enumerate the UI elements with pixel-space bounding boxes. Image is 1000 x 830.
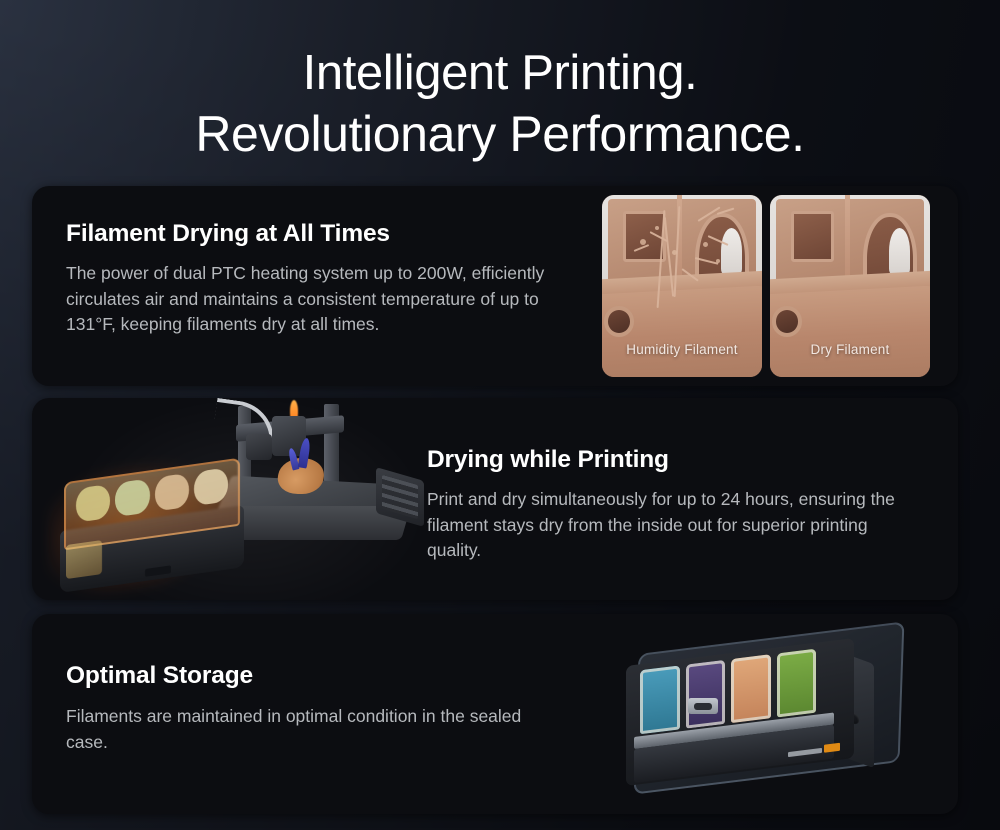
storage-case-handle (688, 698, 718, 714)
card-2-title: Drying while Printing (427, 446, 927, 474)
brand-badge (824, 743, 840, 753)
card-3-text-block: Optimal Storage Filaments are maintained… (66, 662, 586, 755)
promo-page: Intelligent Printing. Revolutionary Perf… (0, 0, 1000, 830)
card-1-body: The power of dual PTC heating system up … (66, 261, 590, 338)
filament-dryer-box (60, 457, 244, 593)
card-2-text-block: Drying while Printing Print and dry simu… (427, 446, 927, 564)
card-3-body: Filaments are maintained in optimal cond… (66, 704, 566, 755)
humidity-filament-photo: Humidity Filament (602, 195, 762, 377)
filament-comparison-gallery: Humidity Filament Dry Filament (602, 195, 930, 377)
feature-card-drying-while-printing: Drying while Printing Print and dry simu… (32, 398, 958, 600)
sealed-storage-case-illustration (614, 630, 934, 798)
card-2-body: Print and dry simultaneously for up to 2… (427, 487, 919, 564)
dry-filament-photo: Dry Filament (770, 195, 930, 377)
card-1-text-block: Filament Drying at All Times The power o… (66, 220, 606, 338)
feature-card-optimal-storage: Optimal Storage Filaments are maintained… (32, 614, 958, 814)
card-1-title: Filament Drying at All Times (66, 220, 606, 248)
feature-card-filament-drying: Filament Drying at All Times The power o… (32, 186, 958, 386)
humidity-filament-caption: Humidity Filament (602, 342, 762, 357)
printer-and-dryer-illustration (46, 398, 436, 600)
page-title: Intelligent Printing. Revolutionary Perf… (0, 44, 1000, 165)
dry-filament-caption: Dry Filament (770, 342, 930, 357)
hero-line-1: Intelligent Printing. (0, 44, 1000, 104)
hero-line-2: Revolutionary Performance. (0, 104, 1000, 165)
card-3-title: Optimal Storage (66, 662, 586, 690)
